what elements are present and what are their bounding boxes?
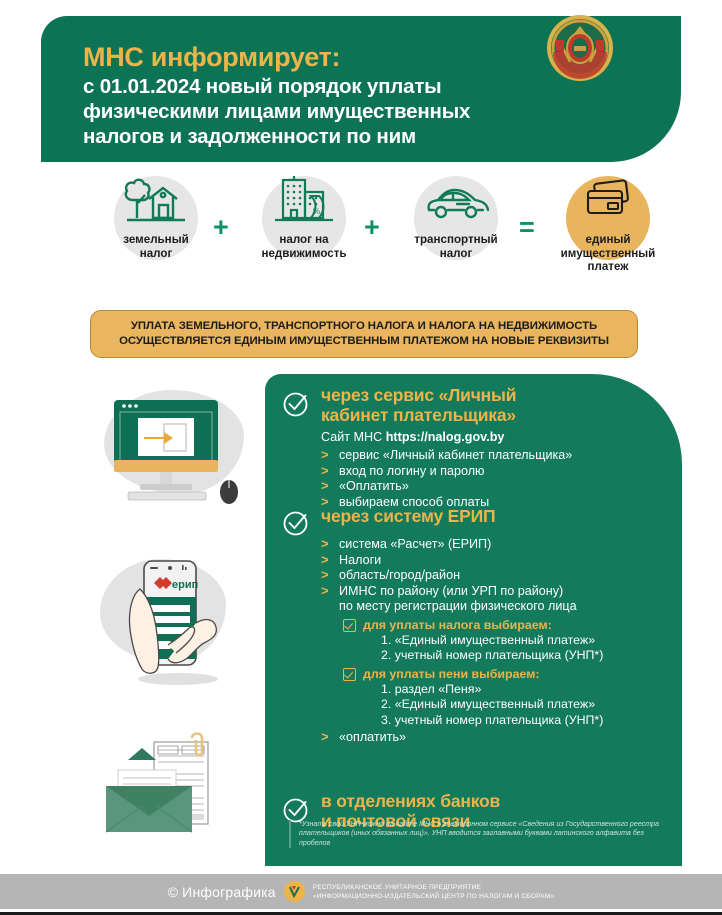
penalty-payment-subgroup: для уплаты пени выбираем: 1. раздел «Пен…	[321, 666, 603, 728]
chevron-right-icon: >	[321, 567, 329, 583]
hands-phone-erip-icon: ерип	[92, 545, 267, 695]
label-line-3: платеж	[548, 260, 668, 274]
footer-bar: © Инфографика РЕСПУБЛИКАНСКОЕ УНИТАРНОЕ …	[0, 874, 722, 909]
bullet-item: >«Оплатить»	[321, 479, 572, 495]
sub-heading-text: для уплаты налога выбираем:	[363, 618, 552, 632]
bullet-item: >вход по логину и паролю	[321, 464, 572, 480]
tax-formula-row: земельный налог +	[96, 170, 656, 290]
check-circle-icon	[282, 796, 309, 823]
chevron-right-icon: >	[321, 552, 329, 568]
infographic-page: МНС информирует: с 01.01.2024 новый поря…	[0, 0, 722, 915]
sub-heading-text: для уплаты пени выбираем:	[363, 667, 540, 681]
buildings-percent-icon: %	[244, 170, 364, 228]
ministry-line-1: МИНИСТЕРСТВО	[505, 90, 655, 102]
bullet-text: Налоги	[339, 553, 381, 567]
footer-org-line-1: РЕСПУБЛИКАНСКОЕ УНИТАРНОЕ ПРЕДПРИЯТИЕ	[313, 883, 555, 892]
car-icon	[396, 170, 516, 228]
chevron-right-icon: >	[321, 536, 329, 552]
site-url[interactable]: https://nalog.gov.by	[386, 430, 505, 444]
bullet-text: сервис «Личный кабинет плательщика»	[339, 448, 572, 462]
footer-org-line-2: «ИНФОРМАЦИОННО-ИЗДАТЕЛЬСКИЙ ЦЕНТР ПО НАЛ…	[313, 892, 555, 901]
bullet-item: >«оплатить»	[321, 730, 603, 746]
page-title: МНС информирует:	[83, 42, 503, 73]
formula-label-land-tax: земельный налог	[96, 233, 216, 260]
ministry-line-3: РЕСПУБЛИКИ БЕЛАРУСЬ	[505, 113, 655, 125]
label-line-2: налог	[396, 247, 516, 261]
bullet-text: область/город/район	[339, 568, 460, 582]
footnote-unp: *Узнать свой УНП можно на сайте МНС в эл…	[289, 820, 667, 848]
chevron-right-icon: >	[321, 463, 329, 479]
operator-equals: =	[519, 212, 535, 243]
bullet-item: >ИМНС по району (или УРП по району)	[321, 584, 603, 600]
formula-label-transport-tax: транспортный налог	[396, 233, 516, 260]
title-line-1: в отделениях банков	[321, 792, 500, 812]
phone-erip-label: ерип	[172, 579, 198, 591]
bullet-text: «Оплатить»	[339, 479, 409, 493]
label-line-2: имущественный	[548, 247, 668, 261]
title-line-2: кабинет плательщика»	[321, 406, 516, 426]
bullet-text: вход по логину и паролю	[339, 464, 485, 478]
bullet-item-continued: по месту регистрации физического лица	[321, 599, 603, 615]
check-circle-icon	[282, 509, 309, 536]
label-line-1: земельный	[96, 233, 216, 247]
envelope-document-icon	[92, 728, 267, 853]
bullet-text: по месту регистрации физического лица	[339, 599, 577, 613]
section-title-personal-cabinet: через сервис «Личный кабинет плательщика…	[321, 386, 516, 425]
banner-line-2: ОСУЩЕСТВЛЯЕТСЯ ЕДИНЫМ ИМУЩЕСТВЕННЫМ ПЛАТ…	[101, 334, 627, 349]
ministry-line-2: ПО НАЛОГАМ И СБОРАМ	[505, 102, 655, 114]
chevron-right-icon: >	[321, 729, 329, 745]
desktop-monitor-icon	[92, 382, 262, 512]
formula-item-single-payment: единый имущественный платеж	[548, 170, 668, 274]
bullets-personal-cabinet: >сервис «Личный кабинет плательщика» >вх…	[321, 448, 572, 510]
banner-line-1: УПЛАТА ЗЕМЕЛЬНОГО, ТРАНСПОРТНОГО НАЛОГА …	[101, 319, 627, 334]
label-line-2: налог	[96, 247, 216, 261]
payment-notice-banner: УПЛАТА ЗЕМЕЛЬНОГО, ТРАНСПОРТНОГО НАЛОГА …	[90, 310, 638, 358]
formula-label-property-tax: налог на недвижимость	[244, 233, 364, 260]
chevron-right-icon: >	[321, 478, 329, 494]
bullet-text: «оплатить»	[339, 730, 406, 744]
house-tree-icon	[96, 170, 216, 228]
copyright-label: © Инфографика	[168, 884, 276, 900]
riic-logo-icon	[284, 881, 305, 902]
site-line: Сайт МНС https://nalog.gov.by	[321, 430, 504, 446]
formula-item-transport-tax: транспортный налог	[396, 170, 516, 260]
numbered-item: 2. «Единый имущественный платеж»	[343, 697, 603, 712]
bullet-text: система «Расчет» (ЕРИП)	[339, 537, 491, 551]
bullet-item: >область/город/район	[321, 568, 603, 584]
checkbox-checked-icon	[343, 619, 356, 632]
formula-item-property-tax: % налог на недвижимость	[244, 170, 364, 260]
check-circle-icon	[282, 390, 309, 417]
label-line-1: налог на	[244, 233, 364, 247]
ministry-name: МИНИСТЕРСТВО ПО НАЛОГАМ И СБОРАМ РЕСПУБЛ…	[505, 90, 655, 125]
bullet-item: >сервис «Личный кабинет плательщика»	[321, 448, 572, 464]
site-prefix: Сайт МНС	[321, 430, 386, 444]
label-line-1: единый	[548, 233, 668, 247]
penalty-payment-heading: для уплаты пени выбираем:	[343, 666, 603, 682]
payment-methods-panel: через сервис «Личный кабинет плательщика…	[265, 374, 682, 866]
operator-plus-2: +	[364, 212, 380, 243]
label-line-2: недвижимость	[244, 247, 364, 261]
belarus-coat-of-arms-icon	[544, 12, 616, 84]
numbered-item: 3. учетный номер плательщика (УНП*)	[343, 713, 603, 728]
checkbox-checked-icon	[343, 668, 356, 681]
bullets-erip: >система «Расчет» (ЕРИП) >Налоги >област…	[321, 537, 603, 746]
bullet-text: ИМНС по району (или УРП по району)	[339, 584, 563, 598]
formula-item-land-tax: земельный налог	[96, 170, 216, 260]
bullet-item: >система «Расчет» (ЕРИП)	[321, 537, 603, 553]
tax-payment-subgroup: для уплаты налога выбираем: 1. «Единый и…	[321, 617, 603, 664]
numbered-item: 1. раздел «Пеня»	[343, 682, 603, 697]
svg-text:%: %	[313, 207, 320, 216]
numbered-item: 2. учетный номер плательщика (УНП*)	[343, 648, 603, 663]
payment-cards-icon	[548, 170, 668, 228]
chevron-right-icon: >	[321, 447, 329, 463]
formula-label-single-payment: единый имущественный платеж	[548, 233, 668, 274]
chevron-right-icon: >	[321, 583, 329, 599]
ministry-emblem-block: МИНИСТЕРСТВО ПО НАЛОГАМ И СБОРАМ РЕСПУБЛ…	[505, 12, 655, 125]
header-subtitle: с 01.01.2024 новый порядок уплаты физиче…	[83, 74, 513, 149]
numbered-item: 1. «Единый имущественный платеж»	[343, 633, 603, 648]
tax-payment-heading: для уплаты налога выбираем:	[343, 617, 603, 633]
label-line-1: транспортный	[396, 233, 516, 247]
bullet-item: >Налоги	[321, 553, 603, 569]
section-title-erip: через систему ЕРИП	[321, 507, 495, 527]
title-line-1: через сервис «Личный	[321, 386, 516, 406]
footer-org: РЕСПУБЛИКАНСКОЕ УНИТАРНОЕ ПРЕДПРИЯТИЕ «И…	[313, 883, 555, 901]
